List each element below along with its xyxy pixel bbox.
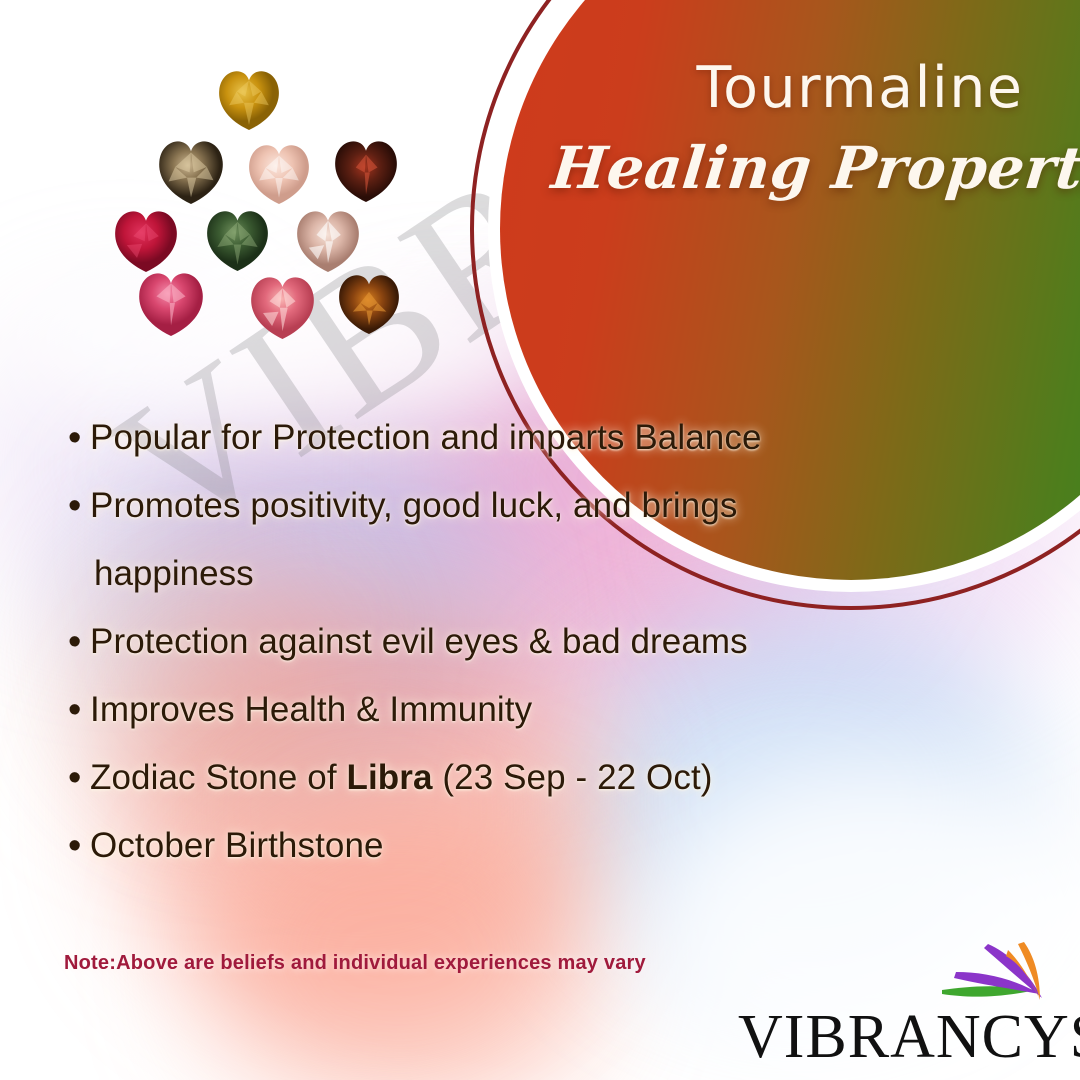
list-item-label-continuation: happiness [64, 540, 984, 608]
page-subtitle: Healing Properties [549, 139, 1080, 197]
zodiac-prefix: Zodiac Stone of [90, 758, 346, 797]
list-item-zodiac: • Zodiac Stone of Libra (23 Sep - 22 Oct… [64, 744, 984, 812]
bullet-dot-icon: • [64, 744, 90, 812]
bullet-dot-icon: • [64, 676, 90, 744]
list-item: • Improves Health & Immunity [64, 676, 984, 744]
list-item: • October Birthstone [64, 812, 984, 880]
gem-rose-pink [251, 277, 314, 339]
list-item-label: Protection against evil eyes & bad dream… [90, 608, 748, 676]
poster-canvas: VIBRANCYS [0, 0, 1080, 1080]
list-item-label: Popular for Protection and imparts Balan… [90, 404, 762, 472]
gem-crimson-rubellite [115, 211, 177, 272]
vibrancys-flourish-icon [940, 942, 1050, 1004]
zodiac-dates: (23 Sep - 22 Oct) [433, 758, 713, 797]
zodiac-sign: Libra [346, 758, 432, 797]
gem-champagne-pink [297, 211, 359, 272]
gem-dark-red [335, 141, 397, 202]
list-item-label-zodiac: Zodiac Stone of Libra (23 Sep - 22 Oct) [90, 744, 713, 812]
list-item: • Promotes positivity, good luck, and br… [64, 472, 984, 540]
bullet-dot-icon: • [64, 404, 90, 472]
list-item-label: Improves Health & Immunity [90, 676, 532, 744]
bullet-dot-icon: • [64, 812, 90, 880]
list-item: • Popular for Protection and imparts Bal… [64, 404, 984, 472]
gemstone-cluster-svg [110, 60, 430, 360]
gem-amber-brown [339, 275, 399, 334]
list-item: • Protection against evil eyes & bad dre… [64, 608, 984, 676]
gem-peach-pink [249, 145, 309, 204]
page-title: Tourmaline [697, 60, 1024, 117]
logo-wordmark: VIBRANCYS [738, 1006, 1056, 1068]
gem-green-verdelite [207, 211, 268, 271]
disclaimer-note: Note:Above are beliefs and individual ex… [64, 952, 646, 975]
bullet-dot-icon: • [64, 472, 90, 540]
gem-hot-pink [139, 273, 203, 336]
brand-logo: VIBRANCYS [738, 942, 1056, 1062]
list-item-label: Promotes positivity, good luck, and brin… [90, 472, 737, 540]
list-item-label: October Birthstone [90, 812, 384, 880]
gemstone-cluster [110, 60, 430, 360]
benefits-list: • Popular for Protection and imparts Bal… [64, 404, 984, 880]
bullet-dot-icon: • [64, 608, 90, 676]
gem-golden-yellow [219, 71, 279, 130]
gem-smoky-brown [159, 141, 223, 204]
